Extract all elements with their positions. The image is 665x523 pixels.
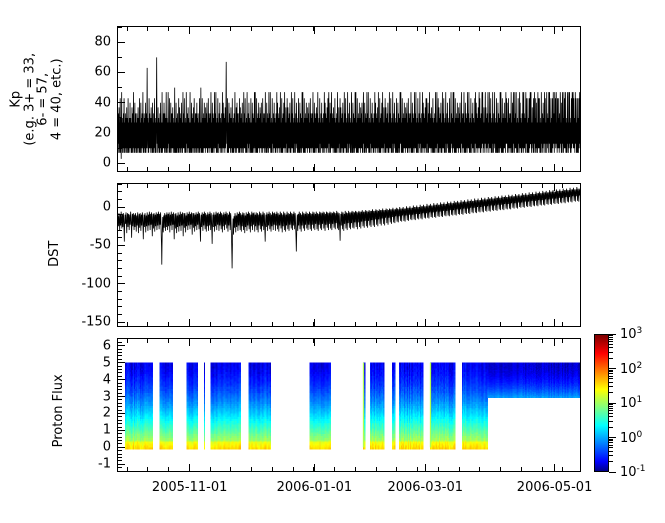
tick-mark xyxy=(562,467,563,471)
tick-mark xyxy=(417,322,418,326)
tick-mark xyxy=(118,430,122,431)
tick-mark xyxy=(118,102,122,103)
tick-mark xyxy=(118,443,122,444)
tick-mark xyxy=(479,27,480,31)
tick-mark xyxy=(118,383,122,384)
tick-mark xyxy=(272,27,273,31)
tick-mark xyxy=(251,27,252,31)
tick-mark xyxy=(334,27,335,31)
tick-mark xyxy=(609,413,613,414)
tick-mark xyxy=(396,27,397,31)
tick-mark xyxy=(479,322,480,326)
tick-mark xyxy=(500,322,501,326)
tick-mark xyxy=(609,421,613,422)
tick-mark xyxy=(168,184,169,188)
dst-axis-label: DST xyxy=(48,209,62,299)
tick-mark xyxy=(118,467,122,468)
tick-mark xyxy=(609,410,613,411)
tick-mark xyxy=(396,184,397,188)
tick-mark xyxy=(609,386,613,387)
y-tick-label: 2 xyxy=(65,406,111,421)
tick-mark xyxy=(118,427,122,428)
tick-mark xyxy=(147,467,148,471)
tick-mark xyxy=(118,362,122,363)
tick-mark xyxy=(500,467,501,471)
tick-mark xyxy=(168,167,169,171)
tick-mark xyxy=(118,406,122,407)
tick-mark xyxy=(417,467,418,471)
tick-mark xyxy=(542,322,543,326)
tick-mark xyxy=(396,167,397,171)
tick-mark xyxy=(609,344,613,345)
x-tick-label: 2006-05-01 xyxy=(517,480,593,495)
colorbar xyxy=(594,334,609,472)
tick-mark xyxy=(521,167,522,171)
tick-mark xyxy=(118,399,122,400)
y-tick-label: 0 xyxy=(65,156,111,171)
tick-mark xyxy=(251,184,252,188)
tick-mark xyxy=(562,322,563,326)
tick-mark xyxy=(118,27,122,28)
tick-mark xyxy=(230,167,231,171)
tick-mark xyxy=(609,455,613,456)
tick-mark xyxy=(542,467,543,471)
tick-mark xyxy=(542,167,543,171)
tick-mark xyxy=(118,199,122,200)
tick-mark xyxy=(609,347,613,348)
tick-mark xyxy=(127,339,128,343)
tick-mark xyxy=(609,461,613,462)
x-tick-label: 2006-03-01 xyxy=(387,480,463,495)
tick-mark xyxy=(355,27,356,31)
y-tick-label: -50 xyxy=(65,238,111,253)
tick-mark xyxy=(609,472,616,473)
tick-mark xyxy=(272,167,273,171)
tick-mark xyxy=(313,322,314,326)
tick-mark xyxy=(355,167,356,171)
tick-mark xyxy=(609,406,613,407)
tick-mark xyxy=(118,450,122,451)
kp-plot-panel xyxy=(117,26,581,172)
tick-mark xyxy=(118,214,122,215)
colorbar-tick-label: 101 xyxy=(620,395,642,411)
tick-mark xyxy=(118,454,122,455)
tick-mark xyxy=(609,404,613,405)
tick-mark xyxy=(118,464,122,465)
tick-mark xyxy=(147,322,148,326)
tick-mark xyxy=(562,167,563,171)
tick-mark xyxy=(554,464,555,471)
tick-mark xyxy=(438,467,439,471)
tick-mark xyxy=(189,27,190,31)
tick-mark xyxy=(396,467,397,471)
tick-mark xyxy=(609,439,613,440)
tick-mark xyxy=(562,27,563,31)
tick-mark xyxy=(293,339,294,343)
tick-mark xyxy=(334,167,335,171)
tick-mark xyxy=(189,322,190,326)
tick-mark xyxy=(118,413,122,414)
tick-mark xyxy=(210,167,211,171)
tick-mark xyxy=(479,467,480,471)
tick-mark xyxy=(438,167,439,171)
dst-plot-panel xyxy=(117,183,581,327)
y-tick-label: 4 xyxy=(65,372,111,387)
tick-mark xyxy=(425,27,426,34)
tick-mark xyxy=(376,322,377,326)
tick-mark xyxy=(118,222,122,223)
tick-mark xyxy=(127,322,128,326)
tick-mark xyxy=(609,392,613,393)
colorbar-tick-label: 10-1 xyxy=(620,464,646,480)
y-tick-label: 20 xyxy=(65,126,111,141)
tick-mark xyxy=(118,283,122,284)
tick-mark xyxy=(417,27,418,31)
tick-mark xyxy=(118,393,122,394)
tick-mark xyxy=(313,184,314,188)
tick-mark xyxy=(521,467,522,471)
tick-mark xyxy=(118,276,122,277)
tick-mark xyxy=(210,322,211,326)
dst-data-trace xyxy=(118,184,580,326)
colorbar-tick-label: 103 xyxy=(620,326,642,342)
tick-mark xyxy=(118,245,122,246)
tick-mark xyxy=(355,339,356,343)
tick-mark xyxy=(118,260,122,261)
tick-mark xyxy=(438,184,439,188)
tick-mark xyxy=(118,299,122,300)
tick-mark xyxy=(118,314,122,315)
tick-mark xyxy=(562,339,563,343)
tick-mark xyxy=(376,467,377,471)
dst-axis-label-text: DST xyxy=(48,209,62,299)
kp-data-trace xyxy=(118,27,580,171)
tick-mark xyxy=(210,339,211,343)
tick-mark xyxy=(147,167,148,171)
tick-mark xyxy=(355,467,356,471)
tick-mark xyxy=(521,322,522,326)
tick-mark xyxy=(210,467,211,471)
tick-mark xyxy=(127,184,128,188)
tick-mark xyxy=(609,442,613,443)
tick-mark xyxy=(609,427,613,428)
tick-mark xyxy=(118,379,122,380)
tick-mark xyxy=(118,72,122,73)
y-tick-label: 0 xyxy=(65,200,111,215)
tick-mark xyxy=(425,164,426,171)
tick-mark xyxy=(542,27,543,31)
tick-mark xyxy=(189,184,190,188)
tick-mark xyxy=(376,339,377,343)
tick-mark xyxy=(425,464,426,471)
tick-mark xyxy=(118,349,122,350)
tick-mark xyxy=(609,445,613,446)
tick-mark xyxy=(118,403,122,404)
y-tick-label: 1 xyxy=(65,423,111,438)
tick-mark xyxy=(118,306,122,307)
tick-mark xyxy=(168,467,169,471)
proton-flux-axis-label-text: Proton Flux xyxy=(52,346,66,476)
y-tick-label: -150 xyxy=(65,315,111,330)
tick-mark xyxy=(118,163,122,164)
tick-mark xyxy=(417,339,418,343)
y-tick-label: 60 xyxy=(65,65,111,80)
tick-mark xyxy=(609,341,613,342)
tick-mark xyxy=(118,253,122,254)
tick-mark xyxy=(542,339,543,343)
tick-mark xyxy=(118,133,122,134)
tick-mark xyxy=(168,27,169,31)
tick-mark xyxy=(479,184,480,188)
tick-mark xyxy=(554,184,555,191)
tick-mark xyxy=(118,396,122,397)
tick-mark xyxy=(118,322,122,323)
tick-mark xyxy=(293,27,294,31)
tick-mark xyxy=(609,440,613,441)
tick-mark xyxy=(425,319,426,326)
tick-mark xyxy=(118,342,122,343)
kp-axis-label-line-2: (e.g. 3+ = 33, xyxy=(23,34,37,164)
tick-mark xyxy=(272,184,273,188)
tick-mark xyxy=(376,167,377,171)
tick-mark xyxy=(479,167,480,171)
tick-mark xyxy=(118,460,122,461)
tick-mark xyxy=(459,467,460,471)
tick-mark xyxy=(230,467,231,471)
tick-mark xyxy=(459,339,460,343)
tick-mark xyxy=(500,167,501,171)
tick-mark xyxy=(118,191,122,192)
tick-mark xyxy=(251,322,252,326)
tick-mark xyxy=(459,184,460,188)
figure-root: Kp (e.g. 3+ = 33, 6- = 57, 4 = 40, etc.)… xyxy=(0,0,665,523)
tick-mark xyxy=(118,372,122,373)
tick-mark xyxy=(293,167,294,171)
tick-mark xyxy=(609,373,613,374)
kp-axis-label-line-1: Kp xyxy=(10,34,24,164)
x-tick-label: 2006-01-01 xyxy=(277,480,353,495)
tick-mark xyxy=(189,167,190,171)
tick-mark xyxy=(609,382,613,383)
tick-mark xyxy=(609,376,613,377)
proton-flux-plot-panel xyxy=(117,338,581,472)
tick-mark xyxy=(118,389,122,390)
tick-mark xyxy=(459,27,460,31)
tick-mark xyxy=(251,467,252,471)
tick-mark xyxy=(118,369,122,370)
tick-mark xyxy=(425,339,426,346)
tick-mark xyxy=(118,376,122,377)
tick-mark xyxy=(118,237,122,238)
tick-mark xyxy=(313,339,314,343)
tick-mark xyxy=(313,167,314,171)
tick-mark xyxy=(118,184,122,185)
tick-mark xyxy=(396,339,397,343)
tick-mark xyxy=(609,339,613,340)
tick-mark xyxy=(438,322,439,326)
tick-mark xyxy=(272,339,273,343)
proton-flux-axis-label: Proton Flux xyxy=(52,346,66,476)
y-tick-label: 80 xyxy=(65,35,111,50)
y-tick-label: 5 xyxy=(65,355,111,370)
tick-mark xyxy=(272,467,273,471)
tick-mark xyxy=(118,117,122,118)
tick-mark xyxy=(334,184,335,188)
tick-mark xyxy=(376,27,377,31)
tick-mark xyxy=(118,416,122,417)
tick-mark xyxy=(118,355,122,356)
x-tick-label: 2005-11-01 xyxy=(152,480,228,495)
tick-mark xyxy=(118,207,122,208)
tick-mark xyxy=(230,184,231,188)
tick-mark xyxy=(609,335,613,336)
y-tick-label: 6 xyxy=(65,338,111,353)
tick-mark xyxy=(189,339,190,343)
tick-mark xyxy=(293,467,294,471)
tick-mark xyxy=(118,359,122,360)
tick-mark xyxy=(147,27,148,31)
tick-mark xyxy=(210,184,211,188)
tick-mark xyxy=(438,339,439,343)
tick-mark xyxy=(438,27,439,31)
tick-mark xyxy=(609,451,613,452)
tick-mark xyxy=(554,339,555,346)
tick-mark xyxy=(609,337,613,338)
tick-mark xyxy=(609,408,613,409)
tick-mark xyxy=(334,467,335,471)
tick-mark xyxy=(230,322,231,326)
tick-mark xyxy=(293,322,294,326)
tick-mark xyxy=(293,184,294,188)
tick-mark xyxy=(118,148,122,149)
tick-mark xyxy=(313,467,314,471)
tick-mark xyxy=(118,437,122,438)
tick-mark xyxy=(127,467,128,471)
tick-mark xyxy=(554,164,555,171)
tick-mark xyxy=(542,184,543,188)
tick-mark xyxy=(118,345,122,346)
tick-mark xyxy=(118,420,122,421)
tick-mark xyxy=(127,167,128,171)
tick-mark xyxy=(118,352,122,353)
tick-mark xyxy=(396,322,397,326)
tick-mark xyxy=(521,339,522,343)
tick-mark xyxy=(230,339,231,343)
tick-mark xyxy=(355,322,356,326)
tick-mark xyxy=(609,371,613,372)
tick-mark xyxy=(118,457,122,458)
tick-mark xyxy=(118,423,122,424)
tick-mark xyxy=(376,184,377,188)
tick-mark xyxy=(189,467,190,471)
tick-mark xyxy=(609,378,613,379)
tick-mark xyxy=(417,167,418,171)
tick-mark xyxy=(118,447,122,448)
tick-mark xyxy=(500,339,501,343)
y-tick-label: -100 xyxy=(65,276,111,291)
y-tick-label: 3 xyxy=(65,389,111,404)
y-tick-label: -1 xyxy=(65,457,111,472)
tick-mark xyxy=(521,184,522,188)
tick-mark xyxy=(554,319,555,326)
tick-mark xyxy=(147,339,148,343)
tick-mark xyxy=(127,27,128,31)
tick-mark xyxy=(168,322,169,326)
tick-mark xyxy=(459,167,460,171)
tick-mark xyxy=(210,27,211,31)
tick-mark xyxy=(272,322,273,326)
tick-mark xyxy=(251,167,252,171)
tick-mark xyxy=(609,358,613,359)
tick-mark xyxy=(118,433,122,434)
tick-mark xyxy=(118,57,122,58)
tick-mark xyxy=(355,184,356,188)
tick-mark xyxy=(118,268,122,269)
tick-mark xyxy=(118,410,122,411)
tick-mark xyxy=(118,87,122,88)
tick-mark xyxy=(417,184,418,188)
tick-mark xyxy=(313,27,314,31)
tick-mark xyxy=(118,386,122,387)
tick-mark xyxy=(554,27,555,34)
tick-mark xyxy=(609,352,613,353)
proton-flux-heatmap xyxy=(118,339,580,471)
tick-mark xyxy=(118,366,122,367)
tick-mark xyxy=(459,322,460,326)
tick-mark xyxy=(334,339,335,343)
kp-axis-label-line-3: 6- = 57, xyxy=(37,34,51,164)
tick-mark xyxy=(609,416,613,417)
tick-mark xyxy=(230,27,231,31)
tick-mark xyxy=(479,339,480,343)
colorbar-gradient xyxy=(595,335,608,471)
tick-mark xyxy=(562,184,563,188)
tick-mark xyxy=(147,184,148,188)
kp-axis-label: Kp (e.g. 3+ = 33, 6- = 57, 4 = 40, etc.) xyxy=(10,34,65,164)
colorbar-tick-label: 102 xyxy=(620,360,642,376)
tick-mark xyxy=(118,42,122,43)
tick-mark xyxy=(609,370,613,371)
tick-mark xyxy=(118,440,122,441)
tick-mark xyxy=(168,339,169,343)
tick-mark xyxy=(500,184,501,188)
tick-mark xyxy=(118,230,122,231)
kp-axis-label-line-4: 4 = 40, etc.) xyxy=(51,34,65,164)
tick-mark xyxy=(118,291,122,292)
tick-mark xyxy=(425,184,426,191)
tick-mark xyxy=(609,447,613,448)
tick-mark xyxy=(500,27,501,31)
y-tick-label: 40 xyxy=(65,95,111,110)
tick-mark xyxy=(251,339,252,343)
tick-mark xyxy=(521,27,522,31)
tick-mark xyxy=(334,322,335,326)
y-tick-label: 0 xyxy=(65,440,111,455)
colorbar-tick-label: 100 xyxy=(620,429,642,445)
